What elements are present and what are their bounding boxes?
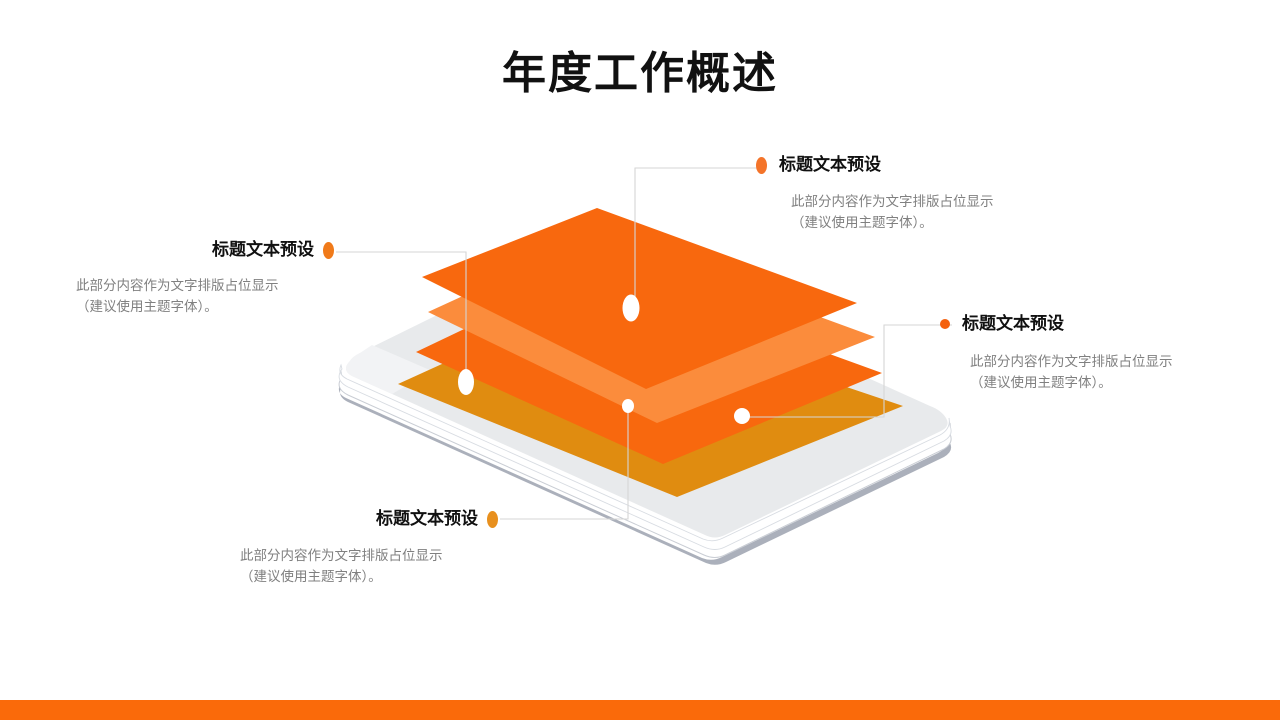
callout-mid-right[interactable]: 标题文本预设 此部分内容作为文字排版占位显示 （建议使用主题字体）。 — [940, 314, 1240, 394]
callout-left[interactable]: 标题文本预设 此部分内容作为文字排版占位显示 （建议使用主题字体）。 — [56, 240, 334, 318]
oval-bullet-icon — [487, 511, 498, 528]
callout-mid-right-body: 此部分内容作为文字排版占位显示 （建议使用主题字体）。 — [970, 352, 1240, 394]
callout-left-header: 标题文本预设 — [56, 240, 334, 260]
callout-mid-right-header: 标题文本预设 — [940, 314, 1240, 334]
bottom-accent-bar — [0, 700, 1280, 720]
callout-mid-right-body-line1: 此部分内容作为文字排版占位显示 — [970, 352, 1240, 373]
oval-bullet-icon — [323, 242, 334, 259]
marker-bottom-layer — [622, 399, 634, 413]
slide-canvas: 年度工作概述 — [0, 0, 1280, 720]
callout-top-right-header: 标题文本预设 — [756, 155, 1056, 175]
marker-top-layer — [623, 295, 640, 322]
callout-bottom-left-body: 此部分内容作为文字排版占位显示 （建议使用主题字体）。 — [240, 546, 498, 588]
callout-top-right-body: 此部分内容作为文字排版占位显示 （建议使用主题字体）。 — [791, 192, 1056, 234]
marker-right-layer — [734, 408, 750, 424]
marker-left-layer — [458, 369, 474, 395]
callout-top-right-body-line1: 此部分内容作为文字排版占位显示 — [791, 192, 1056, 213]
callout-top-right[interactable]: 标题文本预设 此部分内容作为文字排版占位显示 （建议使用主题字体）。 — [756, 155, 1056, 234]
callout-bottom-left[interactable]: 标题文本预设 此部分内容作为文字排版占位显示 （建议使用主题字体）。 — [218, 509, 498, 588]
round-bullet-icon — [940, 319, 950, 329]
callout-mid-right-body-line2: （建议使用主题字体）。 — [970, 373, 1240, 394]
callout-left-title: 标题文本预设 — [212, 240, 314, 260]
callout-top-right-title: 标题文本预设 — [779, 155, 881, 175]
callout-mid-right-title: 标题文本预设 — [962, 314, 1064, 334]
callout-left-body-line2: （建议使用主题字体）。 — [76, 297, 334, 318]
oval-bullet-icon — [756, 157, 767, 174]
callout-bottom-left-body-line2: （建议使用主题字体）。 — [240, 567, 498, 588]
callout-bottom-left-header: 标题文本预设 — [218, 509, 498, 529]
callout-bottom-left-title: 标题文本预设 — [376, 509, 478, 529]
callout-top-right-body-line2: （建议使用主题字体）。 — [791, 213, 1056, 234]
callout-left-body-line1: 此部分内容作为文字排版占位显示 — [76, 276, 334, 297]
callout-left-body: 此部分内容作为文字排版占位显示 （建议使用主题字体）。 — [76, 276, 334, 318]
callout-bottom-left-body-line1: 此部分内容作为文字排版占位显示 — [240, 546, 498, 567]
